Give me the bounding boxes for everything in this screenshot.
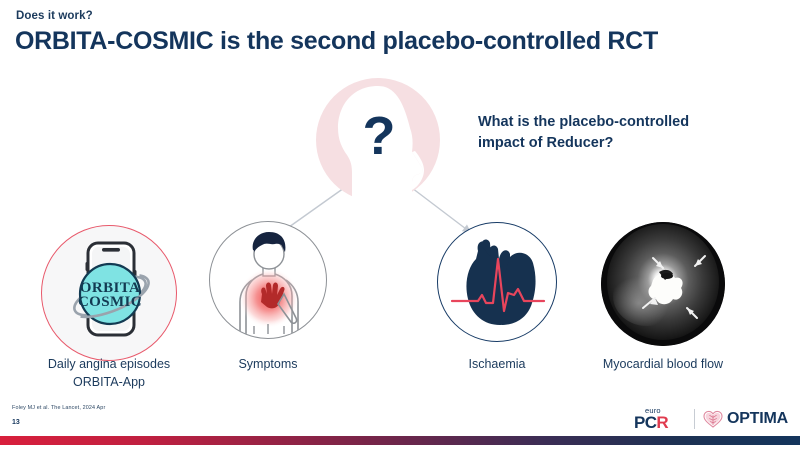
caption-line-1: Ischaemia [469, 357, 526, 371]
europcr-logo-pcr-text: PCR [634, 413, 668, 433]
europcr-logo: euro PCR [634, 406, 686, 432]
orbita-logo-line2: COSMIC [78, 294, 142, 310]
app-circle-frame: ORBITA COSMIC [41, 225, 177, 361]
logo-divider [694, 409, 695, 429]
citation-text: Foley MJ et al. The Lancet, 2024 Apr [12, 405, 105, 411]
question-line-1: What is the placebo-controlled [478, 114, 689, 130]
footer-gradient-bar [0, 436, 800, 445]
head-silhouette-group: ? [316, 78, 440, 202]
pcr-red-letter: R [656, 413, 668, 432]
slide-number: 13 [12, 419, 20, 426]
blood-flow-circle-frame [601, 222, 725, 346]
caption-line-1: Myocardial blood flow [603, 357, 723, 371]
optima-logo-text: OPTIMA [727, 410, 788, 428]
optima-logo: OPTIMA [703, 409, 788, 429]
question-mark-glyph: ? [316, 78, 440, 202]
caption-line-1: Symptoms [238, 357, 297, 371]
perfusion-scan-icon [601, 222, 725, 346]
heart-ecg-icon [438, 223, 557, 342]
slide-canvas: Does it work? ORBITA-COSMIC is the secon… [0, 0, 800, 450]
ischaemia-circle-frame [437, 222, 557, 342]
person-chest-pain-icon [210, 222, 327, 339]
footer-logos: euro PCR OPTIMA [634, 406, 788, 432]
caption-line-1: Daily angina episodes [48, 357, 170, 371]
central-question-text: What is the placebo-controlled impact of… [478, 112, 728, 153]
optima-heart-icon [703, 409, 723, 429]
caption-line-2: ORBITA-App [73, 375, 145, 389]
question-line-2: impact of Reducer? [478, 135, 613, 151]
pcr-dark-letters: PC [634, 413, 656, 432]
symptoms-circle-frame [209, 221, 327, 339]
caption-myocardial-blood-flow: Myocardial blood flow [563, 355, 763, 373]
caption-symptoms: Symptoms [168, 355, 368, 373]
smartphone-orbita-app-icon: ORBITA COSMIC [42, 226, 177, 361]
